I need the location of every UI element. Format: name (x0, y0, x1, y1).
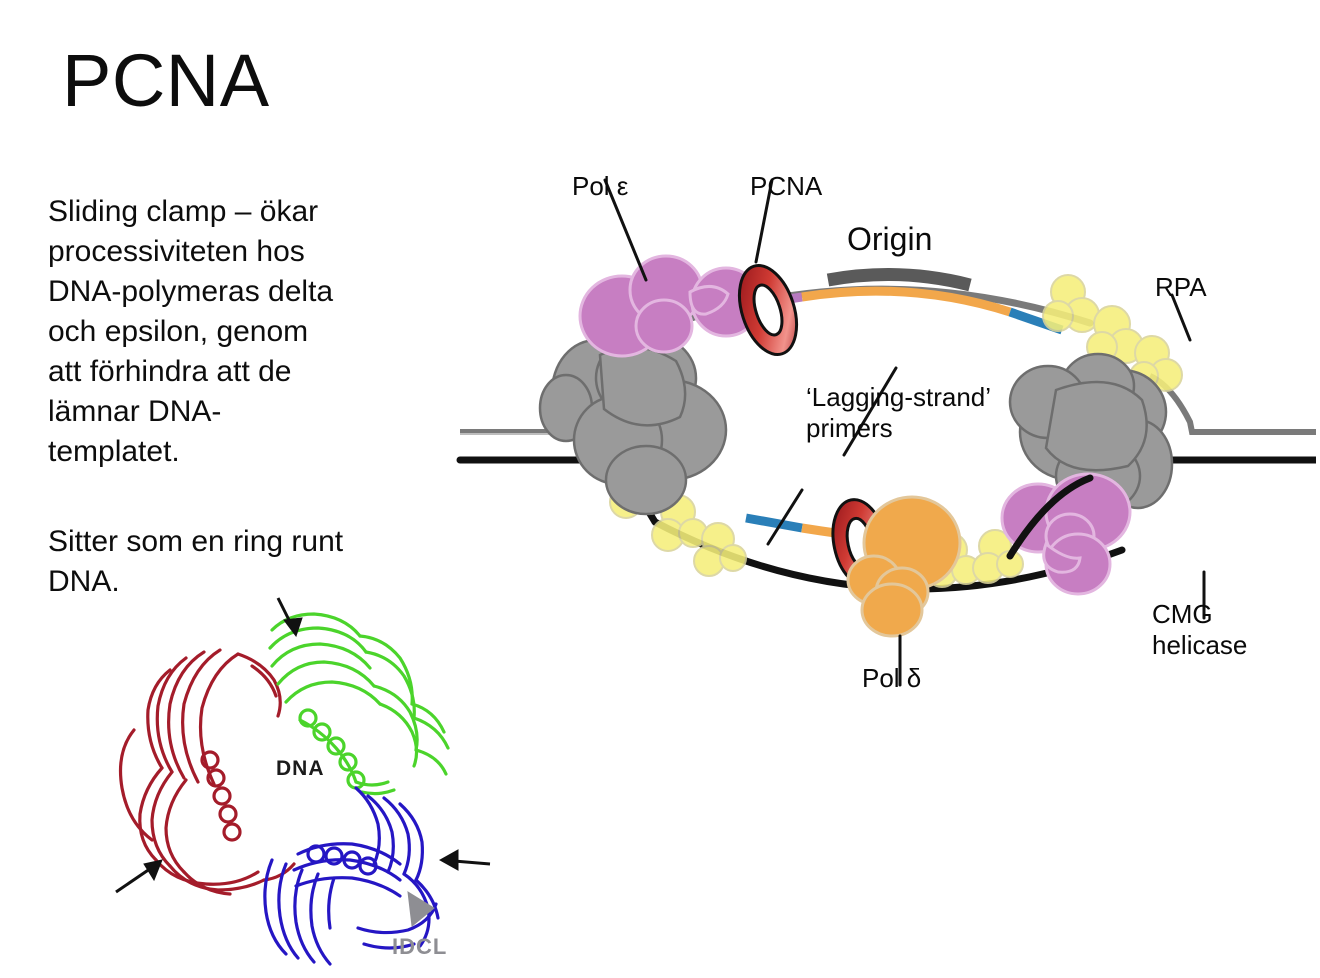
pol-epsilon-left (580, 256, 760, 356)
pcna-subunit-red (121, 650, 295, 894)
pcna-ribbon-structure-image (112, 592, 494, 978)
arrow-left (116, 860, 162, 892)
label-pol-epsilon: Pol ε (572, 171, 628, 202)
label-lagging-strand-primers: ‘Lagging-strand’ primers (806, 382, 991, 443)
origin-marker-bar (828, 275, 970, 285)
label-pcna: PCNA (750, 171, 822, 202)
top-nascent-strand (762, 291, 1062, 330)
arrow-right (440, 850, 490, 870)
slide-canvas: PCNA Sliding clamp – ökar processivitete… (0, 0, 1320, 978)
cmg-helicase-left (540, 334, 726, 514)
page-title: PCNA (62, 42, 270, 120)
label-pol-delta: Pol δ (862, 663, 921, 694)
body-paragraph-1: Sliding clamp – ökar processiviteten hos… (48, 192, 348, 472)
label-rpa: RPA (1155, 272, 1207, 303)
label-cmg-helicase: CMG helicase (1152, 599, 1247, 660)
pcna-idcl-label: IDCL (392, 934, 447, 960)
pcna-dna-center-label: DNA (276, 757, 325, 781)
bottom-primer-segment (746, 518, 802, 528)
label-origin: Origin (847, 221, 932, 259)
body-paragraph-2: Sitter som en ring runt DNA. (48, 522, 348, 602)
